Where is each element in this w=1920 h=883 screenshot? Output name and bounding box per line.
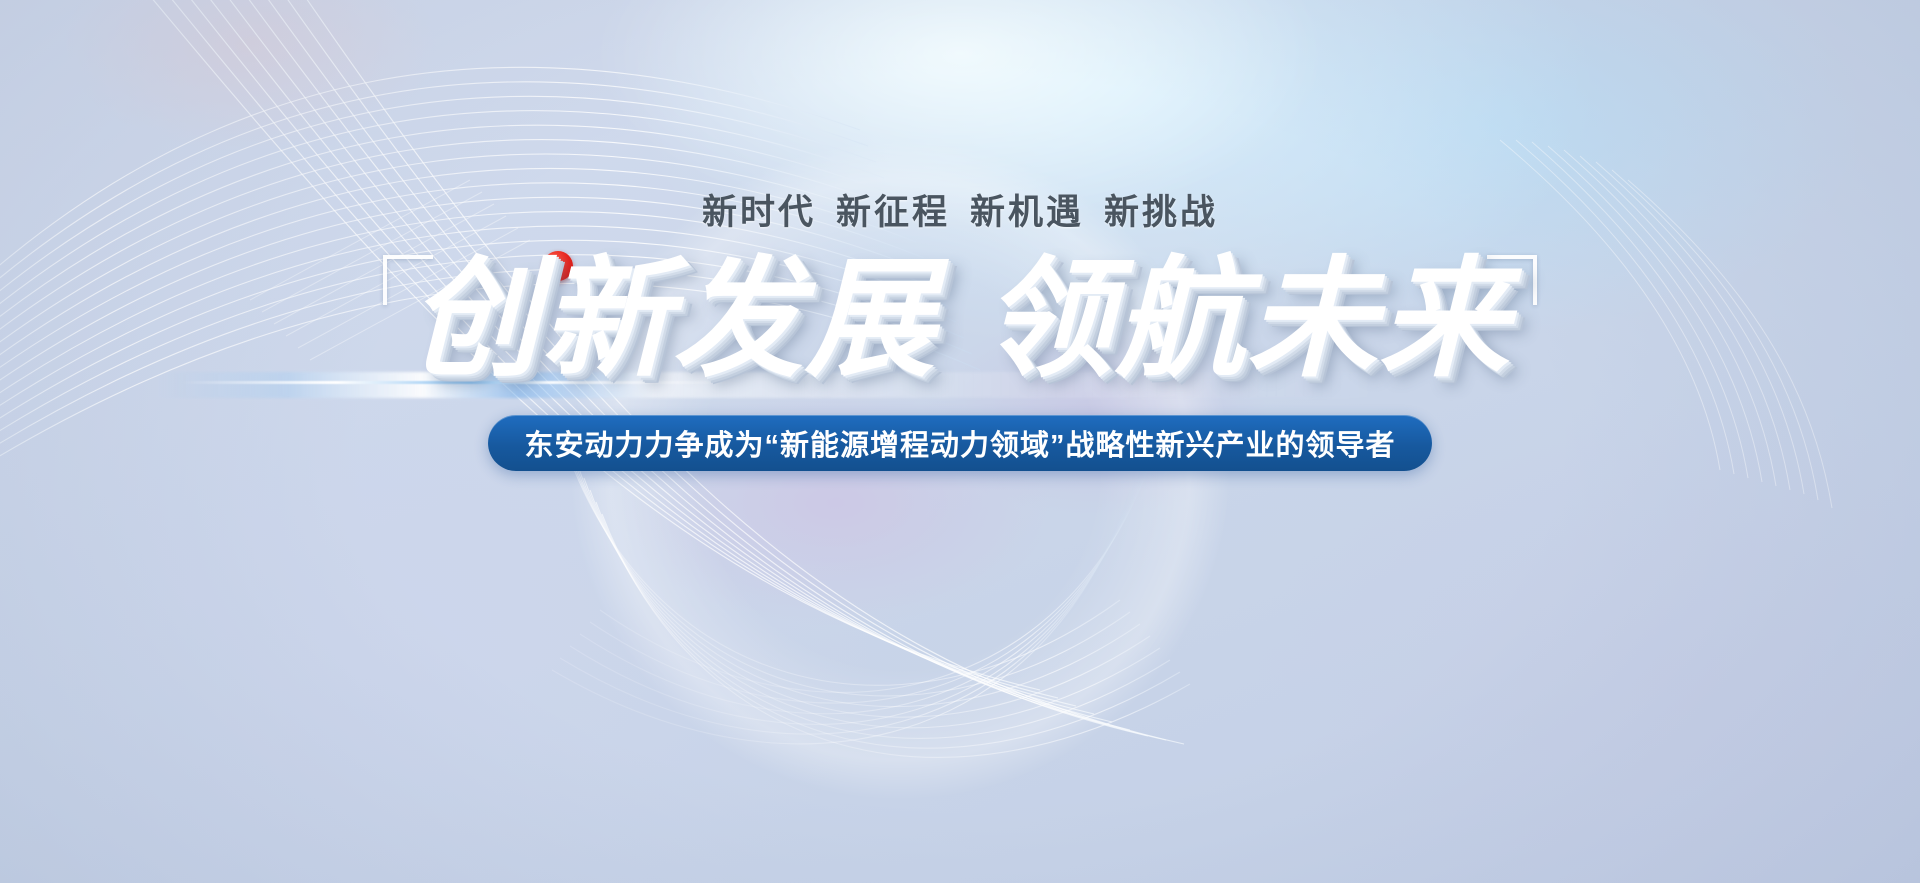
headline-group: 创新发展领航未来 [375,249,1545,389]
headline-right: 领航未来 [983,246,1511,392]
headline-left: 创新发展 [409,246,937,392]
banner-tagline: 新时代新征程新机遇新挑战 [702,184,1218,235]
banner-content: 新时代新征程新机遇新挑战 创新发展领航未来 东安动力力争成为“新能源增程动力领域… [0,0,1920,883]
tagline-part-3: 新机遇 [970,193,1084,232]
tagline-part-4: 新挑战 [1104,193,1218,232]
promo-banner: 新时代新征程新机遇新挑战 创新发展领航未来 东安动力力争成为“新能源增程动力领域… [0,0,1920,883]
banner-headline: 创新发展领航未来 [409,249,1511,389]
tagline-part-2: 新征程 [836,193,950,232]
mission-statement-pill[interactable]: 东安动力力争成为“新能源增程动力领域”战略性新兴产业的领导者 [488,415,1431,471]
tagline-part-1: 新时代 [702,193,816,232]
